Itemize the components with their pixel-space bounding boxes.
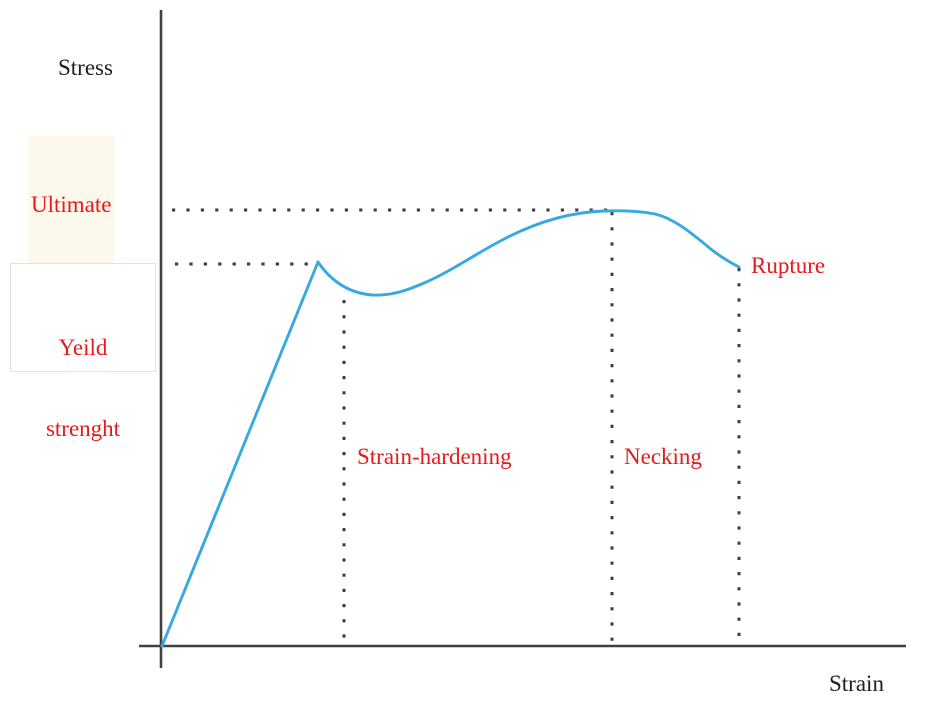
x-axis-label: Strain	[829, 670, 884, 697]
yield-strength-textbox: Yeild strenght	[10, 263, 156, 372]
strain-hardening-annotation: Strain-hardening	[357, 443, 512, 470]
yield-strength-line-2: strenght	[11, 409, 155, 449]
necking-annotation: Necking	[624, 443, 702, 470]
curve-elastic-region	[162, 262, 318, 646]
yield-strength-line-1: Yeild	[11, 328, 155, 368]
curve-yield-region	[318, 262, 424, 295]
yield-strength-annotation: Yeild strenght	[11, 288, 155, 489]
curve-strain-hardening-region	[424, 211, 604, 283]
ultimate-strength-line-1: Ultimate	[31, 191, 111, 218]
y-axis-label: Stress	[58, 54, 113, 81]
rupture-annotation: Rupture	[751, 252, 825, 279]
curve-necking-region	[655, 214, 739, 267]
stress-strain-diagram: Stress Strain Ultimate Strenght Yeild st…	[0, 0, 935, 718]
